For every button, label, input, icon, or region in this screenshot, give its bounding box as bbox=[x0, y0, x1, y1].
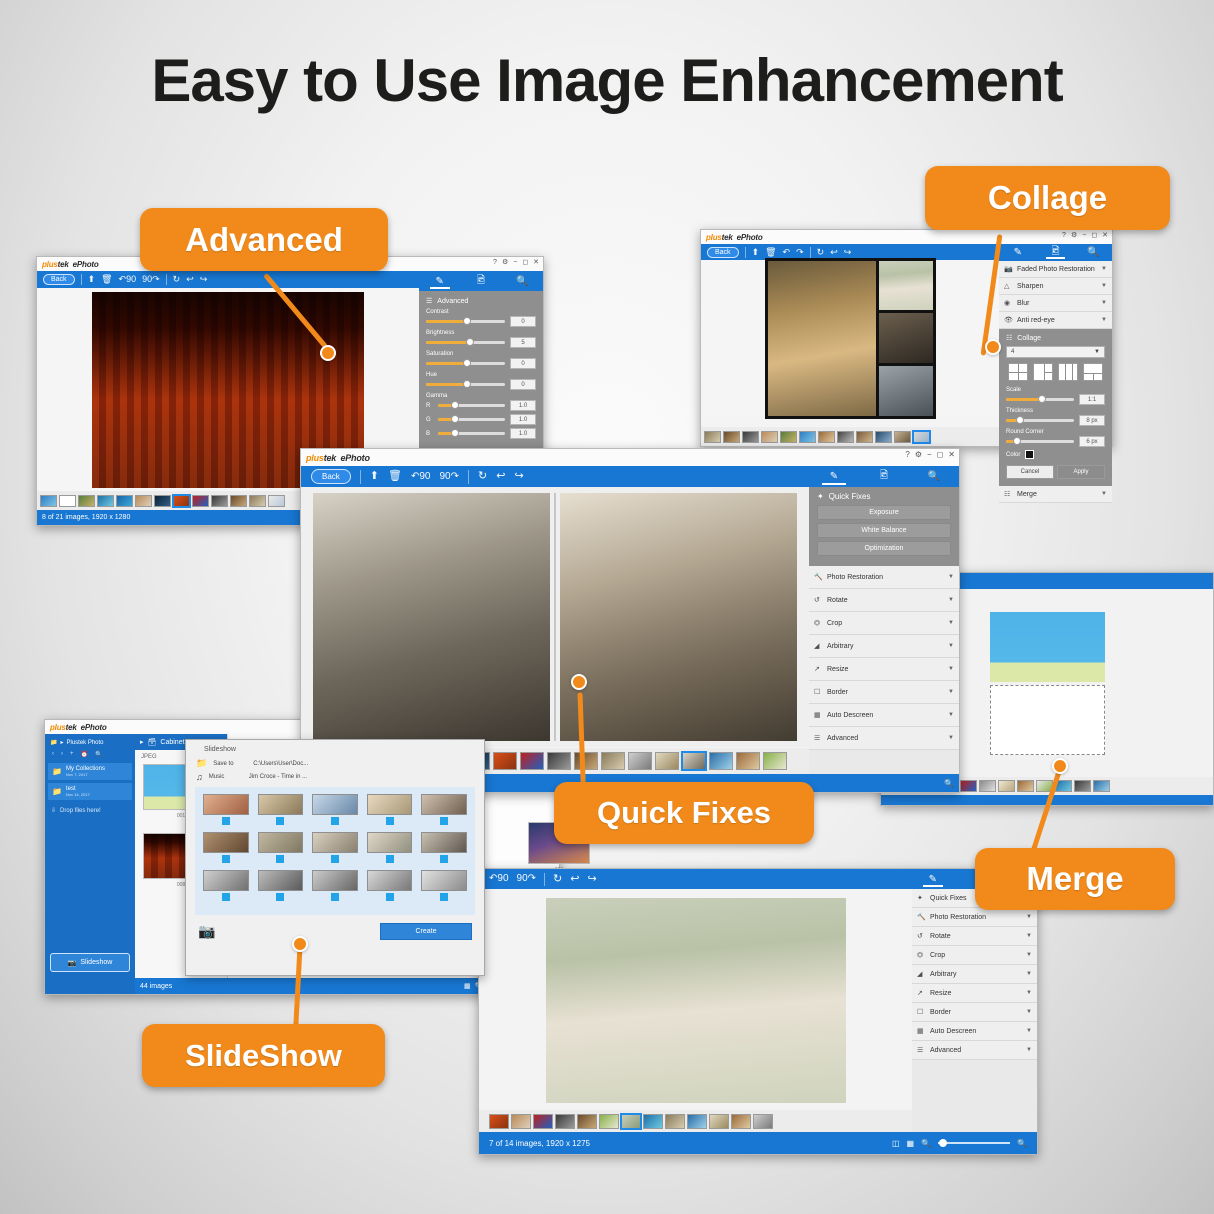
layout-grid-2x2[interactable] bbox=[1008, 363, 1028, 381]
chevron-down-icon[interactable]: ▼ bbox=[1101, 491, 1107, 497]
row-advanced[interactable]: ☰ Advanced ▼ bbox=[912, 1041, 1037, 1060]
folder-icon: 📁 bbox=[50, 739, 57, 746]
callout-slideshow[interactable]: SlideShow bbox=[142, 1024, 385, 1087]
back-icon[interactable]: ‹ bbox=[52, 751, 54, 758]
panel-tabs[interactable]: ✎ 🖻 🔍 bbox=[809, 466, 959, 487]
slideshow-dialog-title: Slideshow bbox=[186, 740, 484, 757]
slideshow-item[interactable] bbox=[258, 832, 304, 863]
descreen-icon: ▦ bbox=[814, 711, 823, 720]
row-resize[interactable]: ↗ Resize ▼ bbox=[912, 984, 1037, 1003]
hue-value[interactable]: 0 bbox=[510, 379, 536, 390]
zoom-slider[interactable] bbox=[938, 1142, 1010, 1144]
upload-icon[interactable]: ⬆ bbox=[370, 471, 379, 482]
zoom-in-icon[interactable]: 🔍 bbox=[1017, 1139, 1027, 1148]
enhance-tab[interactable]: 🖻 bbox=[460, 271, 501, 291]
row-arbitrary[interactable]: ◢ Arbitrary ▼ bbox=[809, 635, 959, 658]
drop-icon: ⇩ bbox=[51, 807, 56, 814]
chevron-down-icon[interactable]: ▼ bbox=[948, 666, 954, 672]
chevron-down-icon[interactable]: ▼ bbox=[948, 643, 954, 649]
settings-icon[interactable]: ⚙ bbox=[915, 450, 922, 459]
rotate-left-90-icon[interactable]: ↶ bbox=[783, 248, 791, 257]
rotate-right-90-icon[interactable]: ↷ bbox=[796, 248, 804, 257]
back-button[interactable]: Back bbox=[311, 469, 351, 484]
callout-advanced[interactable]: Advanced bbox=[140, 208, 388, 271]
refresh-icon[interactable]: ↻ bbox=[553, 874, 562, 885]
gamma-r-value[interactable]: 1.0 bbox=[510, 400, 536, 411]
redo-icon[interactable]: ↪ bbox=[587, 874, 596, 885]
window-system-buttons[interactable]: ? ⚙ − ◻ ✕ bbox=[905, 450, 955, 459]
slideshow-item[interactable] bbox=[203, 870, 249, 901]
rotate-left-90-icon[interactable]: ↶90 bbox=[411, 472, 431, 482]
slider-thickness[interactable]: Thickness 8 px bbox=[1006, 408, 1105, 426]
window-photo-editor[interactable]: ↶90 90↷ ↻ ↩ ↪ ✎ ✦ Quick Fixes 🔨 Photo Re… bbox=[478, 868, 1038, 1155]
row-border[interactable]: ☐ Border ▼ bbox=[912, 1003, 1037, 1022]
slideshow-dialog[interactable]: Slideshow 📁 Save to C:\Users\User\Doc...… bbox=[185, 739, 485, 976]
merge-preview-back bbox=[990, 685, 1105, 755]
inspect-tab[interactable]: 🔍 bbox=[909, 466, 959, 487]
chevron-down-icon[interactable]: ▼ bbox=[1101, 317, 1107, 323]
view-mode-icon[interactable]: ▦ bbox=[464, 982, 471, 990]
rotate-right-90-icon[interactable]: 90↷ bbox=[142, 275, 160, 284]
chevron-down-icon[interactable]: ▼ bbox=[1026, 1047, 1032, 1053]
layout-three-col[interactable] bbox=[1058, 363, 1078, 381]
save-to-row[interactable]: 📁 Save to C:\Users\User\Doc... bbox=[186, 757, 484, 770]
leader-quick-fixes bbox=[580, 690, 620, 790]
slideshow-item[interactable] bbox=[258, 794, 304, 825]
chevron-down-icon[interactable]: ▼ bbox=[1026, 952, 1032, 958]
row-border[interactable]: ☐ Border ▼ bbox=[809, 681, 959, 704]
trash-icon[interactable]: 🗑 bbox=[101, 275, 112, 284]
thickness-value[interactable]: 8 px bbox=[1079, 415, 1105, 426]
slider-brightness[interactable]: Brightness 5 bbox=[426, 330, 536, 348]
resize-icon: ↗ bbox=[814, 665, 823, 674]
edit-tab[interactable]: ✎ bbox=[912, 869, 954, 889]
color-row[interactable]: Color bbox=[1006, 450, 1105, 459]
resize-icon: ↗ bbox=[917, 989, 926, 998]
rotate-right-90-icon[interactable]: 90↷ bbox=[517, 874, 537, 884]
brightness-value[interactable]: 5 bbox=[510, 337, 536, 348]
brand-logo: plustek ePhoto bbox=[706, 233, 763, 242]
chevron-down-icon[interactable]: ▼ bbox=[1101, 300, 1107, 306]
close-icon[interactable]: ✕ bbox=[533, 258, 539, 266]
quick-fixes-section: ✦ Quick Fixes Exposure White Balance Opt… bbox=[809, 487, 959, 566]
callout-merge[interactable]: Merge bbox=[975, 848, 1175, 910]
row-resize[interactable]: ↗ Resize ▼ bbox=[809, 658, 959, 681]
slideshow-item[interactable] bbox=[312, 794, 358, 825]
gamma-green[interactable]: G 1.0 bbox=[426, 414, 536, 425]
undo-icon[interactable]: ↩ bbox=[830, 248, 838, 257]
arbitrary-icon: ◢ bbox=[814, 642, 823, 651]
contrast-value[interactable]: 0 bbox=[510, 316, 536, 327]
close-icon[interactable]: ✕ bbox=[1102, 231, 1108, 239]
brand-logo: plustek ePhoto bbox=[50, 723, 107, 732]
tool-panel: ✎ 🖻 🔍 ✦ Quick Fixes Exposure White Balan… bbox=[809, 466, 959, 792]
slideshow-item[interactable] bbox=[421, 870, 467, 901]
folder-icon: 📁 bbox=[196, 758, 207, 769]
callout-collage[interactable]: Collage bbox=[925, 166, 1170, 230]
arbitrary-icon: ◢ bbox=[917, 970, 926, 979]
leader-slideshow bbox=[300, 944, 340, 1034]
row-rotate[interactable]: ↺ Rotate ▼ bbox=[912, 927, 1037, 946]
row-crop[interactable]: ⏣ Crop ▼ bbox=[912, 946, 1037, 965]
filmstrip[interactable] bbox=[479, 1110, 912, 1132]
border-icon: ☐ bbox=[917, 1008, 926, 1017]
crop-icon: ⏣ bbox=[814, 619, 823, 628]
collage-layout-options[interactable] bbox=[1006, 363, 1105, 381]
back-button[interactable]: Back bbox=[43, 274, 75, 285]
slideshow-item[interactable] bbox=[312, 870, 358, 901]
row-advanced[interactable]: ☰ Advanced ▼ bbox=[809, 727, 959, 750]
settings-icon[interactable]: ⚙ bbox=[1071, 231, 1077, 239]
row-photo-restoration[interactable]: 🔨 Photo Restoration ▼ bbox=[912, 908, 1037, 927]
window-system-buttons[interactable]: ? ⚙ − ◻ ✕ bbox=[493, 258, 539, 266]
layout-left-big[interactable] bbox=[1033, 363, 1053, 381]
maximize-icon[interactable]: ◻ bbox=[1091, 231, 1097, 239]
folder-icon: 📁 bbox=[52, 787, 62, 796]
collage-canvas bbox=[765, 258, 936, 419]
crop-icon: ⏣ bbox=[917, 951, 926, 960]
leader-dot-quick-fixes bbox=[571, 674, 587, 690]
row-crop[interactable]: ⏣ Crop ▼ bbox=[809, 612, 959, 635]
merge-preview-front bbox=[990, 612, 1105, 682]
minimize-icon[interactable]: − bbox=[1082, 232, 1086, 239]
collection-item-test[interactable]: 📁 test Nov 14, 2017 bbox=[48, 783, 132, 800]
border-icon: ☐ bbox=[814, 688, 823, 697]
slideshow-button[interactable]: 📷 Slideshow bbox=[50, 953, 130, 972]
edit-tab[interactable]: ✎ bbox=[419, 271, 460, 291]
chevron-down-icon[interactable]: ▼ bbox=[1101, 266, 1107, 272]
cancel-button[interactable]: Cancel bbox=[1006, 465, 1054, 479]
callout-quick-fixes[interactable]: Quick Fixes bbox=[554, 782, 814, 844]
statusbar: 7 of 14 images, 1920 x 1275 ◫ ▦ 🔍 🔍 bbox=[479, 1132, 1037, 1154]
quick-fixes-icon: ✦ bbox=[817, 492, 824, 501]
refresh-icon[interactable]: ↻ bbox=[173, 275, 181, 284]
gamma-blue[interactable]: B 1.0 bbox=[426, 428, 536, 439]
rotate-left-90-icon[interactable]: ↶90 bbox=[119, 275, 137, 284]
chevron-down-icon[interactable]: ▼ bbox=[948, 689, 954, 695]
music-icon: ♫ bbox=[196, 772, 203, 782]
fit-width-icon[interactable]: ◫ bbox=[892, 1139, 900, 1148]
filmstrip[interactable] bbox=[701, 427, 999, 446]
help-icon[interactable]: ? bbox=[493, 259, 497, 266]
collage-cell-2[interactable] bbox=[879, 313, 933, 363]
rotate-icon: ↺ bbox=[814, 596, 823, 605]
photo-restoration-icon: 🔨 bbox=[814, 573, 823, 582]
chevron-down-icon[interactable]: ▼ bbox=[1026, 1028, 1032, 1034]
color-swatch[interactable] bbox=[1025, 450, 1034, 459]
add-photo-icon[interactable]: 📷 bbox=[198, 923, 215, 940]
scale-value[interactable]: 1:1 bbox=[1079, 394, 1105, 405]
drop-files-hint[interactable]: ⇩ Drop files here! bbox=[45, 803, 135, 818]
inspect-tab[interactable]: 🔍 bbox=[1074, 244, 1112, 261]
undo-icon[interactable]: ↩ bbox=[186, 275, 194, 284]
zoom-icon[interactable]: 🔍 bbox=[944, 779, 954, 788]
folder-icon: 📁 bbox=[52, 767, 62, 776]
quick-fixes-title: ✦ Quick Fixes bbox=[817, 492, 951, 501]
rotate-left-90-icon[interactable]: ↶90 bbox=[489, 874, 509, 884]
leader-collage bbox=[1000, 232, 1060, 352]
layout-top-big[interactable] bbox=[1083, 363, 1103, 381]
merge-icon: ☷ bbox=[1004, 490, 1013, 499]
cabinet-icon: 🗃 bbox=[148, 738, 157, 746]
rotate-right-90-icon[interactable]: 90↷ bbox=[440, 472, 460, 482]
preview-divider bbox=[554, 493, 556, 741]
round-corner-value[interactable]: 6 px bbox=[1079, 436, 1105, 447]
row-photo-restoration[interactable]: 🔨 Photo Restoration ▼ bbox=[809, 566, 959, 589]
status-text: 7 of 14 images, 1920 x 1275 bbox=[489, 1139, 590, 1148]
chevron-down-icon[interactable]: ▼ bbox=[1026, 990, 1032, 996]
apply-button[interactable]: Apply bbox=[1057, 465, 1105, 479]
inspect-tab[interactable]: 🔍 bbox=[502, 271, 543, 291]
refresh-icon[interactable]: ↻ bbox=[478, 471, 487, 482]
refresh-icon[interactable]: ↻ bbox=[817, 248, 825, 257]
chevron-down-icon[interactable]: ▼ bbox=[948, 574, 954, 580]
slider-scale[interactable]: Scale 1:1 bbox=[1006, 387, 1105, 405]
minimize-icon[interactable]: − bbox=[927, 450, 932, 459]
chevron-down-icon[interactable]: ▼ bbox=[1026, 1009, 1032, 1015]
slideshow-item[interactable] bbox=[367, 832, 413, 863]
collage-cell-3[interactable] bbox=[879, 366, 933, 416]
row-merge[interactable]: ☷ Merge ▼ bbox=[999, 486, 1112, 503]
clock-icon[interactable]: ⏰ bbox=[81, 751, 88, 758]
chevron-down-icon[interactable]: ▼ bbox=[948, 620, 954, 626]
back-button[interactable]: Back bbox=[707, 247, 739, 258]
advanced-icon: ☰ bbox=[426, 297, 432, 305]
photo-restoration-icon: 🔨 bbox=[917, 913, 926, 922]
gamma-b-value[interactable]: 1.0 bbox=[510, 428, 536, 439]
leader-dot-slideshow bbox=[292, 936, 308, 952]
settings-icon[interactable]: ⚙ bbox=[502, 258, 508, 266]
exposure-button[interactable]: Exposure bbox=[817, 505, 951, 520]
slideshow-image-grid[interactable] bbox=[195, 787, 475, 915]
status-text: 44 images bbox=[140, 983, 172, 990]
search-icon[interactable]: 🔍 bbox=[95, 751, 102, 758]
collage-cell-1[interactable] bbox=[879, 261, 933, 311]
tool-panel: ✎ ✦ Quick Fixes 🔨 Photo Restoration ▼ ↺ … bbox=[912, 869, 1037, 1154]
trash-icon[interactable]: 🗑 bbox=[388, 471, 402, 482]
white-balance-button[interactable]: White Balance bbox=[817, 523, 951, 538]
maximize-icon[interactable]: ◻ bbox=[522, 258, 528, 266]
chevron-down-icon[interactable]: ▼ bbox=[1094, 349, 1100, 355]
save-to-value[interactable]: C:\Users\User\Doc... bbox=[253, 761, 308, 767]
row-auto-descreen[interactable]: ▦ Auto Descreen ▼ bbox=[912, 1022, 1037, 1041]
chevron-down-icon[interactable]: ▼ bbox=[948, 735, 954, 741]
redo-icon[interactable]: ↪ bbox=[200, 275, 208, 284]
brand-logo: plustek ePhoto bbox=[306, 453, 370, 463]
music-row[interactable]: ♫ Music Jim Croce - Time in ... bbox=[186, 770, 484, 787]
saturation-value[interactable]: 0 bbox=[510, 358, 536, 369]
gamma-red[interactable]: R 1.0 bbox=[426, 400, 536, 411]
slider-contrast[interactable]: Contrast 0 bbox=[426, 309, 536, 327]
redo-icon[interactable]: ↪ bbox=[514, 471, 523, 482]
gamma-label: Gamma bbox=[426, 393, 536, 399]
leader-dot-merge bbox=[1052, 758, 1068, 774]
undo-icon[interactable]: ↩ bbox=[570, 874, 579, 885]
create-button[interactable]: Create bbox=[380, 923, 472, 940]
chevron-down-icon[interactable]: ▼ bbox=[948, 712, 954, 718]
enhance-tab[interactable]: 🖻 bbox=[859, 466, 909, 487]
slideshow-item[interactable] bbox=[312, 832, 358, 863]
collection-item-my-collections[interactable]: 📁 My Collections Nov 7, 2017 bbox=[48, 763, 132, 780]
row-rotate[interactable]: ↺ Rotate ▼ bbox=[809, 589, 959, 612]
slideshow-item[interactable] bbox=[421, 832, 467, 863]
slideshow-item[interactable] bbox=[367, 870, 413, 901]
collage-controls: ☷ Collage 4 ▼ Scale bbox=[999, 329, 1112, 486]
redo-icon[interactable]: ↪ bbox=[844, 248, 852, 257]
upload-icon[interactable]: ⬆ bbox=[752, 248, 760, 257]
quick-fixes-icon: ✦ bbox=[917, 894, 926, 903]
help-icon[interactable]: ? bbox=[905, 450, 909, 459]
status-text: 8 of 21 images, 1920 x 1280 bbox=[42, 514, 130, 521]
chevron-down-icon[interactable]: ▼ bbox=[1101, 283, 1107, 289]
window-system-buttons[interactable]: ? ⚙ − ◻ ✕ bbox=[1062, 231, 1108, 239]
page-title: Easy to Use Image Enhancement bbox=[0, 46, 1214, 115]
panel-tabs[interactable]: ✎ 🖻 🔍 bbox=[419, 271, 543, 291]
upload-icon[interactable]: ⬆ bbox=[88, 275, 96, 284]
slideshow-icon: 📷 bbox=[68, 959, 77, 967]
close-icon[interactable]: ✕ bbox=[948, 450, 955, 459]
slider-round-corner[interactable]: Round Corner 6 px bbox=[1006, 429, 1105, 447]
preview-image bbox=[546, 898, 846, 1103]
maximize-icon[interactable]: ◻ bbox=[937, 450, 944, 459]
descreen-icon: ▦ bbox=[917, 1027, 926, 1036]
row-auto-descreen[interactable]: ▦ Auto Descreen ▼ bbox=[809, 704, 959, 727]
advanced-panel-title: ☰ Advanced bbox=[426, 297, 536, 305]
titlebar: plustek ePhoto ? ⚙ − ◻ ✕ bbox=[301, 449, 959, 466]
row-arbitrary[interactable]: ◢ Arbitrary ▼ bbox=[912, 965, 1037, 984]
chevron-down-icon[interactable]: ▼ bbox=[1026, 914, 1032, 920]
trash-icon[interactable]: 🗑 bbox=[765, 248, 776, 257]
library-nav[interactable]: ‹ › + ⏰ 🔍 bbox=[45, 749, 135, 763]
forward-icon[interactable]: › bbox=[61, 751, 63, 758]
advanced-icon: ☰ bbox=[814, 734, 823, 743]
help-icon[interactable]: ? bbox=[1062, 232, 1066, 239]
optimization-button[interactable]: Optimization bbox=[817, 541, 951, 556]
library-sidebar[interactable]: 📁 ▸ Plustek Photo ‹ › + ⏰ 🔍 📁 My Collect… bbox=[45, 734, 135, 994]
preview-before bbox=[313, 493, 550, 741]
slideshow-item[interactable] bbox=[367, 794, 413, 825]
minimize-icon[interactable]: − bbox=[513, 259, 517, 266]
chevron-down-icon[interactable]: ▼ bbox=[1026, 971, 1032, 977]
advanced-icon: ☰ bbox=[917, 1046, 926, 1055]
leader-dot-collage bbox=[985, 339, 1001, 355]
add-icon[interactable]: + bbox=[70, 751, 74, 758]
undo-icon[interactable]: ↩ bbox=[496, 471, 505, 482]
music-value[interactable]: Jim Croce - Time in ... bbox=[249, 774, 307, 780]
zoom-out-icon[interactable]: 🔍 bbox=[921, 1139, 931, 1148]
edit-tab[interactable]: ✎ bbox=[809, 466, 859, 487]
slideshow-item[interactable] bbox=[203, 794, 249, 825]
rotate-icon: ↺ bbox=[917, 932, 926, 941]
brand-logo: plustek ePhoto bbox=[42, 260, 99, 269]
slideshow-item[interactable] bbox=[203, 832, 249, 863]
slider-saturation[interactable]: Saturation 0 bbox=[426, 351, 536, 369]
chevron-down-icon[interactable]: ▼ bbox=[1026, 933, 1032, 939]
chevron-down-icon[interactable]: ▼ bbox=[948, 597, 954, 603]
slideshow-item[interactable] bbox=[421, 794, 467, 825]
leader-dot-advanced bbox=[320, 345, 336, 361]
library-root[interactable]: 📁 ▸ Plustek Photo bbox=[45, 734, 135, 749]
collage-cell-large[interactable] bbox=[768, 261, 876, 416]
slider-hue[interactable]: Hue 0 bbox=[426, 372, 536, 390]
gamma-g-value[interactable]: 1.0 bbox=[510, 414, 536, 425]
fit-screen-icon[interactable]: ▦ bbox=[907, 1139, 915, 1148]
slideshow-item[interactable] bbox=[258, 870, 304, 901]
